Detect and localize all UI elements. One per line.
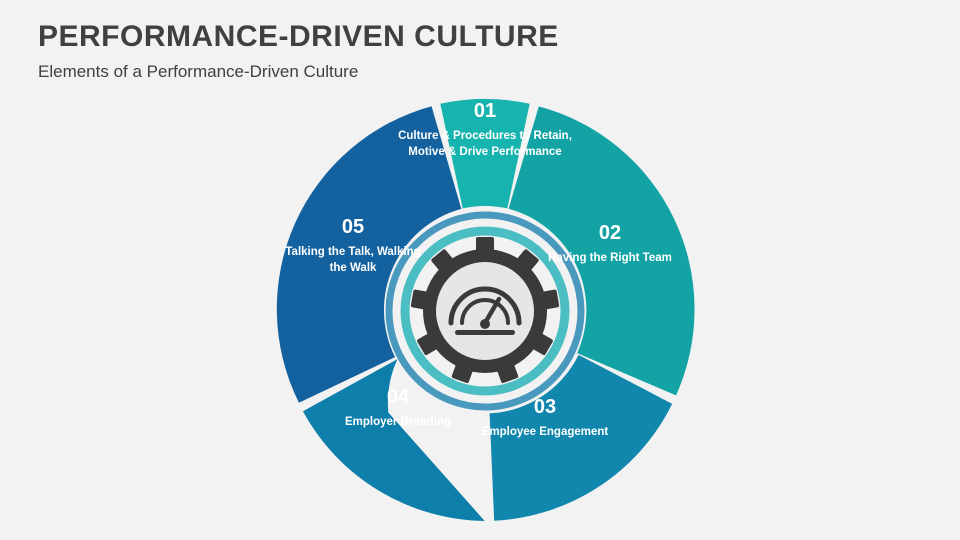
page-title: PERFORMANCE-DRIVEN CULTURE [38,20,559,54]
gear-hub [411,237,560,384]
page-subtitle: Elements of a Performance-Driven Culture [38,62,358,82]
wheel-graphic [250,86,720,536]
performance-culture-wheel: 01 Culture & Procedures to Retain, Motiv… [250,86,720,536]
slide-canvas: PERFORMANCE-DRIVEN CULTURE Elements of a… [0,0,960,540]
